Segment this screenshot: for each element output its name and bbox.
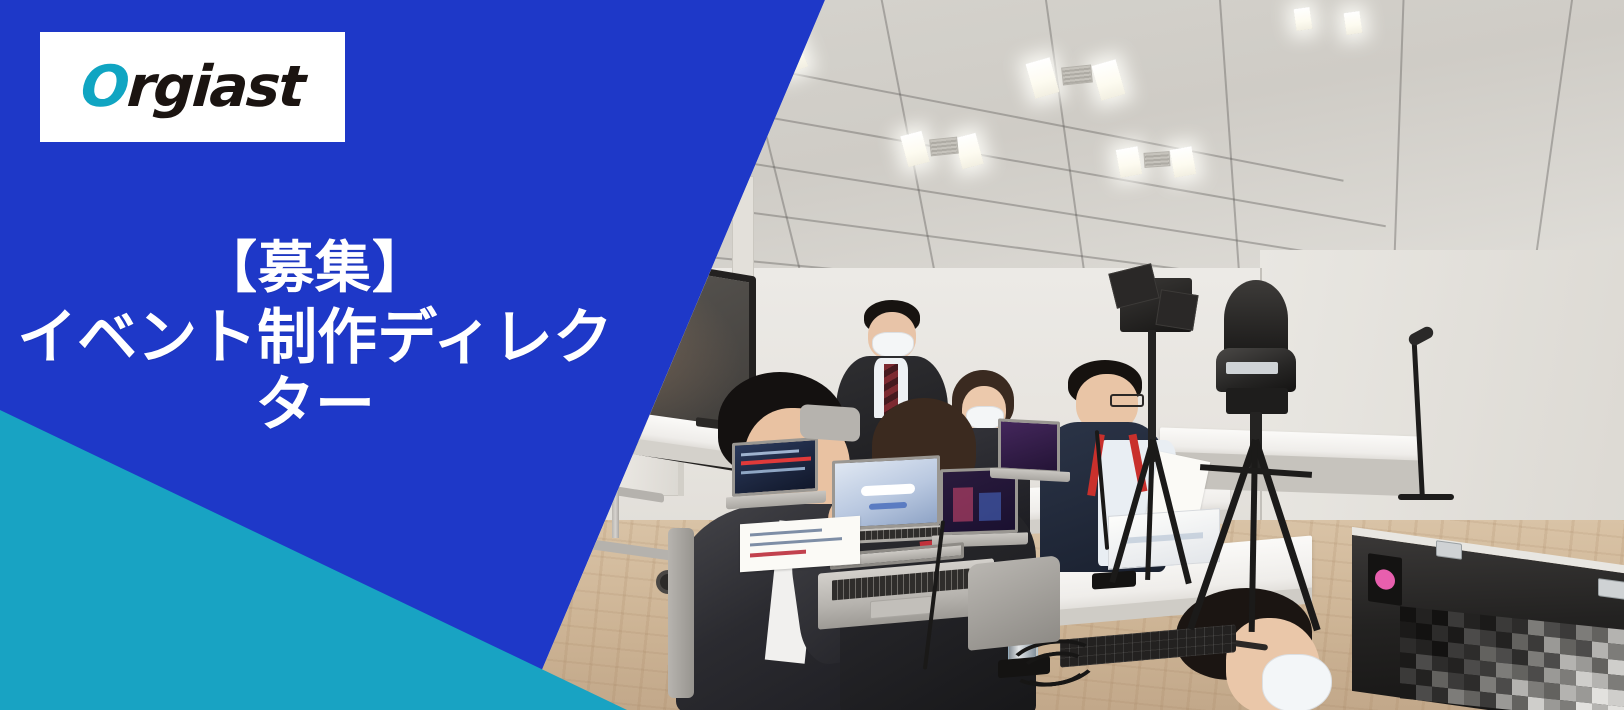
mosaic-block	[1432, 640, 1448, 657]
event-production-photo: ↟	[500, 0, 1624, 710]
mosaic-block	[1592, 688, 1608, 705]
camera-lens-hood	[1224, 280, 1288, 358]
office-chair	[800, 404, 860, 442]
mosaic-block	[1560, 684, 1576, 701]
mosaic-block	[1576, 671, 1592, 688]
tissue-box-print	[1123, 532, 1203, 544]
mosaic-block	[1592, 642, 1608, 659]
ceiling-vent	[683, 120, 715, 142]
mosaic-block	[1416, 639, 1432, 656]
mosaic-block	[1608, 674, 1624, 691]
mosaic-block	[1576, 701, 1592, 710]
case-sticker	[1368, 553, 1402, 606]
mosaic-block	[1528, 635, 1544, 652]
ceiling-vent	[734, 37, 773, 65]
mosaic-block	[1560, 623, 1576, 640]
mosaic-block	[1400, 606, 1416, 623]
mosaic-block	[1464, 690, 1480, 707]
ceiling-vent	[929, 137, 959, 157]
doc-line	[750, 550, 806, 558]
sticker-emblem-icon	[1375, 568, 1395, 591]
mosaic-block	[1560, 700, 1576, 710]
mosaic-block	[1576, 625, 1592, 642]
mosaic-block	[1448, 627, 1464, 644]
screen-chart-line	[741, 456, 811, 465]
exit-sign-glyph: ↟	[604, 156, 613, 167]
mosaic-block	[1432, 625, 1448, 642]
ceiling-light	[1170, 146, 1197, 177]
mosaic-block	[1416, 608, 1432, 625]
mosaic-block	[1496, 632, 1512, 649]
mosaic-block	[1480, 676, 1496, 693]
mosaic-block	[1464, 674, 1480, 691]
mosaic-block	[1576, 686, 1592, 703]
printed-documents	[740, 516, 860, 572]
mosaic-block	[1400, 637, 1416, 654]
mosaic-block	[1448, 611, 1464, 628]
mosaic-block	[1448, 673, 1464, 690]
mic-stand-base	[1398, 494, 1454, 500]
recruitment-banner: ↟	[0, 0, 1624, 710]
mosaic-block	[1432, 656, 1448, 673]
mosaic-block	[1480, 645, 1496, 662]
headline: 【募集】 イベント制作ディレクター	[0, 238, 630, 439]
ceiling-vent	[1144, 151, 1171, 168]
caster-wheel	[514, 552, 538, 576]
screen-widget	[869, 502, 907, 510]
ceiling-light	[1294, 7, 1313, 31]
mosaic-block	[1464, 613, 1480, 630]
mosaic-block	[1448, 657, 1464, 674]
doc-line	[750, 528, 822, 536]
mosaic-block	[1608, 705, 1624, 710]
logo-initial: O	[79, 54, 130, 120]
mosaic-block	[1400, 683, 1416, 700]
emergency-exit-sign: ↟	[596, 150, 622, 172]
mosaic-block	[1528, 681, 1544, 698]
mosaic-block	[1512, 633, 1528, 650]
mosaic-block	[1432, 686, 1448, 703]
mosaic-block	[1560, 654, 1576, 671]
mosaic-block	[1592, 703, 1608, 710]
logo-wordmark: Orgiast	[79, 59, 306, 116]
table-leg	[612, 466, 619, 538]
case-latch[interactable]	[1598, 578, 1624, 600]
mosaic-block	[1416, 623, 1432, 640]
trackpad	[870, 596, 932, 619]
mosaic-block	[1400, 622, 1416, 639]
broadcast-camera	[1216, 348, 1296, 392]
camera-label	[1226, 362, 1278, 374]
mosaic-block	[1400, 652, 1416, 669]
face-mask	[872, 332, 914, 358]
ceiling-light	[654, 112, 685, 149]
mosaic-block	[1544, 652, 1560, 669]
mosaic-block	[1512, 618, 1528, 635]
eyeglasses	[1110, 394, 1144, 407]
ceiling-light	[1116, 146, 1143, 177]
mosaic-block	[1480, 615, 1496, 632]
mosaic-block	[1496, 678, 1512, 695]
mosaic-block	[1576, 640, 1592, 657]
mosaic-block	[1592, 626, 1608, 643]
mosaic-block	[1528, 650, 1544, 667]
mosaic-block	[1512, 695, 1528, 710]
mosaic-block	[1512, 664, 1528, 681]
mosaic-block	[1592, 657, 1608, 674]
mosaic-block	[1496, 616, 1512, 633]
mosaic-block	[1432, 610, 1448, 627]
logo-remainder: rgiast	[125, 54, 306, 120]
laptop-display	[732, 437, 818, 497]
mosaic-block	[1480, 691, 1496, 708]
headline-line-1: 【募集】	[0, 238, 630, 301]
headline-line-2: イベント制作ディレクター	[0, 305, 630, 439]
mosaic-block	[1512, 649, 1528, 666]
ceiling-grid-line	[603, 0, 688, 277]
mosaic-block	[1544, 683, 1560, 700]
mosaic-block	[1480, 630, 1496, 647]
mosaic-block	[1432, 671, 1448, 688]
monitor-stand-pole	[566, 432, 582, 552]
mosaic-block	[1416, 685, 1432, 702]
screen-content	[979, 492, 1001, 521]
face-mask	[1262, 654, 1332, 710]
mosaic-block	[1608, 659, 1624, 676]
mosaic-block	[1416, 654, 1432, 671]
office-chair	[968, 555, 1060, 651]
mosaic-block	[1448, 688, 1464, 705]
mosaic-block	[1512, 679, 1528, 696]
mosaic-block	[1416, 669, 1432, 686]
mosaic-block	[1544, 698, 1560, 710]
mosaic-block	[1560, 638, 1576, 655]
barn-door	[1155, 289, 1198, 331]
mosaic-block	[1560, 669, 1576, 686]
laptop-keyboard	[832, 568, 970, 600]
laptop-display	[998, 418, 1060, 473]
ceiling-light	[712, 115, 743, 152]
screen-row	[741, 449, 799, 456]
mosaic-block	[1544, 637, 1560, 654]
mosaic-block	[1480, 661, 1496, 678]
mosaic-block	[1464, 628, 1480, 645]
doc-line	[750, 537, 842, 546]
pan-tilt-head	[1226, 388, 1288, 414]
mosaic-block	[1528, 666, 1544, 683]
mosaic-block	[1608, 628, 1624, 645]
mosaic-block	[1608, 643, 1624, 660]
mosaic-block	[1496, 662, 1512, 679]
screen-widget	[861, 483, 915, 496]
mosaic-block	[1528, 696, 1544, 710]
mosaic-block	[1496, 693, 1512, 710]
mosaic-block	[1464, 644, 1480, 661]
mosaic-block	[1464, 659, 1480, 676]
company-logo[interactable]: Orgiast	[40, 32, 345, 142]
mosaic-block	[1496, 647, 1512, 664]
mosaic-block	[1528, 620, 1544, 637]
ceiling-vent	[1061, 64, 1093, 85]
mosaic-block	[1400, 668, 1416, 685]
ceiling-light	[1344, 11, 1363, 35]
mosaic-block	[1608, 689, 1624, 706]
screen-row	[741, 467, 805, 474]
door-handle[interactable]	[668, 332, 677, 341]
mosaic-block	[1544, 667, 1560, 684]
chair-frame	[668, 528, 694, 698]
mosaic-block	[1592, 672, 1608, 689]
screen-content	[953, 487, 973, 522]
mosaic-block	[1576, 655, 1592, 672]
mosaic-block	[1448, 642, 1464, 659]
mosaic-block	[1544, 621, 1560, 638]
ceiling-light	[698, 27, 734, 71]
